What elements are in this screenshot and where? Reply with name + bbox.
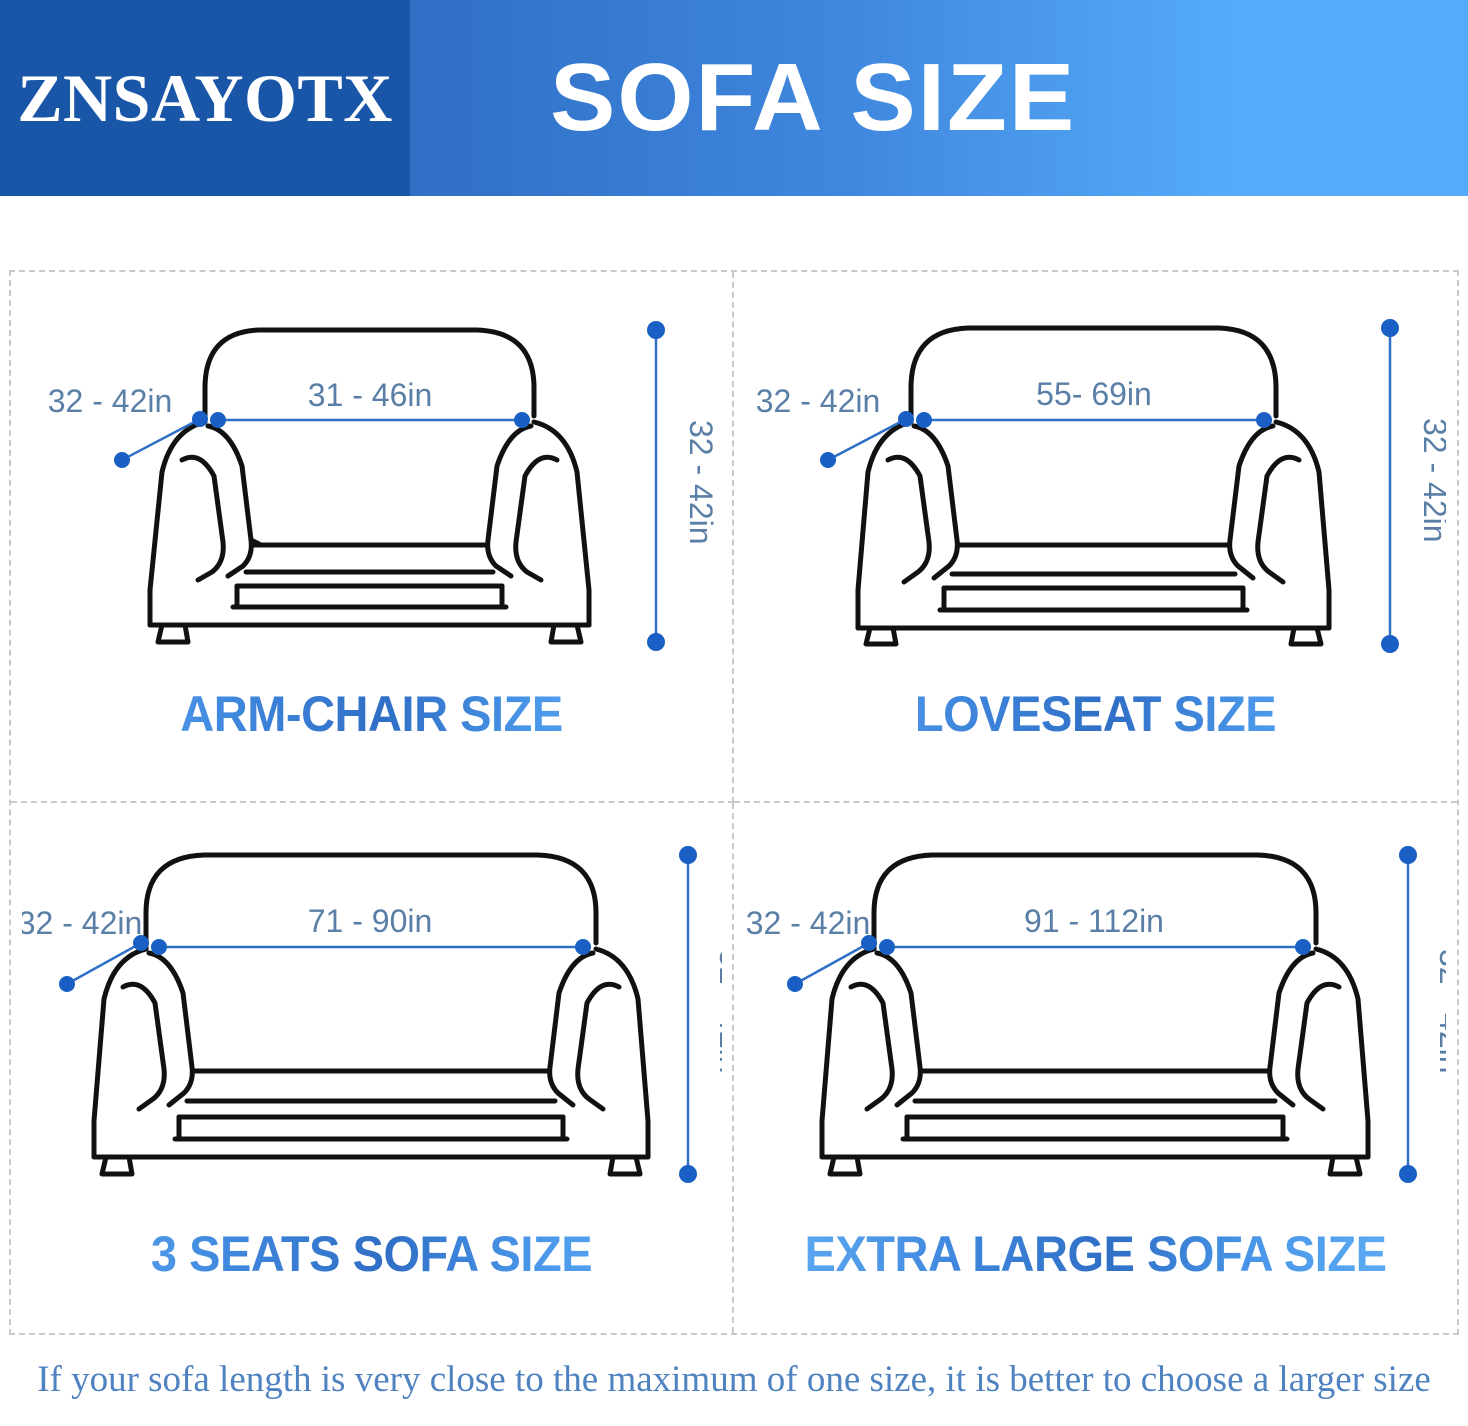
dimension-dot xyxy=(1399,1165,1417,1183)
width-dimension xyxy=(151,939,591,955)
width-dimension xyxy=(916,412,1272,428)
three-seats-sofa-diagram: 71 - 90in 32 - 42in 32 - 42in xyxy=(11,821,732,1191)
loveseat-width-label: 55- 69in xyxy=(1036,376,1152,412)
page-header: ZNSAYOTX SOFA SIZE xyxy=(0,0,1468,196)
dimension-dot xyxy=(647,321,665,339)
size-chart-grid: 31 - 46in 32 - 42in 32 - 42in ARM-CHAIR … xyxy=(9,270,1459,1335)
dimension-dot xyxy=(1381,319,1399,337)
panel-three-seats-sofa: 71 - 90in 32 - 42in 32 - 42in 3 SEATS SO… xyxy=(11,803,734,1334)
height-dimension xyxy=(1381,319,1399,653)
arm-chair-arm-label: 32 - 42in xyxy=(47,383,172,419)
loveseat-arm-label: 32 - 42in xyxy=(755,383,880,419)
extra-large-sofa-diagram: 91 - 112in 32 - 42in 32 - 42in xyxy=(734,821,1457,1191)
dimension-dot xyxy=(898,411,914,427)
width-dimension xyxy=(879,939,1311,955)
dimension-dot xyxy=(514,412,530,428)
loveseat-diagram: 55- 69in 32 - 42in 32 - 42in xyxy=(734,290,1457,660)
extra-large-arm-label: 32 - 42in xyxy=(746,905,870,941)
panel-extra-large-sofa: 91 - 112in 32 - 42in 32 - 42in EXTRA LAR… xyxy=(734,803,1457,1334)
dimension-dot xyxy=(151,939,167,955)
extra-large-sofa-caption: EXTRA LARGE SOFA SIZE xyxy=(756,1229,1436,1279)
dimension-dot xyxy=(114,452,130,468)
dimension-dot xyxy=(787,976,803,992)
brand-name: ZNSAYOTX xyxy=(17,64,393,132)
dimension-dot xyxy=(1381,635,1399,653)
three-seats-arm-label: 32 - 42in xyxy=(22,905,142,941)
panel-arm-chair: 31 - 46in 32 - 42in 32 - 42in ARM-CHAIR … xyxy=(11,272,734,803)
loveseat-caption: LOVESEAT SIZE xyxy=(756,689,1436,739)
extra-large-height-label: 32 - 42in xyxy=(1433,949,1446,1074)
height-dimension xyxy=(679,846,697,1183)
dimension-dot xyxy=(1399,846,1417,864)
extra-large-width-label: 91 - 112in xyxy=(1024,903,1164,939)
dimension-dot xyxy=(192,411,208,427)
page-title: SOFA SIZE xyxy=(550,50,1076,146)
dimension-dot xyxy=(820,452,836,468)
dimension-dot xyxy=(210,412,226,428)
footer-note: If your sofa length is very close to the… xyxy=(0,1358,1468,1402)
arm-chair-width-label: 31 - 46in xyxy=(307,377,432,413)
width-dimension xyxy=(210,412,530,428)
three-seats-height-label: 32 - 42in xyxy=(713,949,722,1074)
brand-block: ZNSAYOTX xyxy=(0,0,410,196)
three-seats-sofa-caption: 3 SEATS SOFA SIZE xyxy=(33,1229,711,1279)
dimension-dot xyxy=(59,976,75,992)
dimension-dot xyxy=(1256,412,1272,428)
dimension-dot xyxy=(1295,939,1311,955)
loveseat-height-label: 32 - 42in xyxy=(1417,418,1446,543)
dimension-dot xyxy=(575,939,591,955)
three-seats-width-label: 71 - 90in xyxy=(307,903,432,939)
height-dimension xyxy=(1399,846,1417,1183)
header-title-band: SOFA SIZE xyxy=(410,0,1468,196)
arm-chair-diagram: 31 - 46in 32 - 42in 32 - 42in xyxy=(11,290,732,660)
dimension-dot xyxy=(647,633,665,651)
dimension-dot xyxy=(679,1165,697,1183)
arm-chair-height-label: 32 - 42in xyxy=(683,420,719,545)
panel-loveseat: 55- 69in 32 - 42in 32 - 42in LOVESEAT SI… xyxy=(734,272,1457,803)
dimension-dot xyxy=(679,846,697,864)
dimension-dot xyxy=(916,412,932,428)
height-dimension xyxy=(647,321,665,651)
dimension-dot xyxy=(879,939,895,955)
arm-chair-caption: ARM-CHAIR SIZE xyxy=(33,689,711,739)
